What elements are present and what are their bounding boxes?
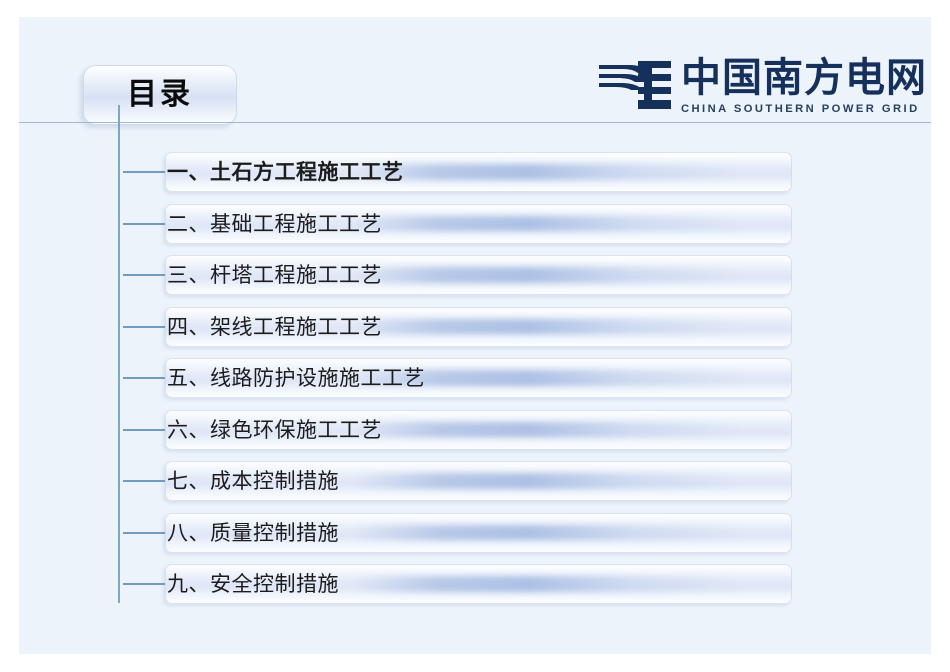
toc-item[interactable]: 二、基础工程施工工艺	[123, 204, 823, 242]
toc-item-label: 二、基础工程施工工艺	[167, 204, 382, 242]
toc-item-tick-icon	[123, 377, 165, 379]
toc-item-label: 七、成本控制措施	[167, 461, 339, 499]
toc-item[interactable]: 四、架线工程施工工艺	[123, 307, 823, 345]
toc-item[interactable]: 六、绿色环保施工工艺	[123, 410, 823, 448]
toc-item-tick-icon	[123, 429, 165, 431]
toc-item[interactable]: 七、成本控制措施	[123, 461, 823, 499]
toc-item-tick-icon	[123, 532, 165, 534]
toc-item-label: 六、绿色环保施工工艺	[167, 410, 382, 448]
toc-item[interactable]: 五、线路防护设施施工工艺	[123, 358, 823, 396]
toc-item[interactable]: 三、杆塔工程施工工艺	[123, 255, 823, 293]
toc-item-tick-icon	[123, 171, 165, 173]
toc-item-tick-icon	[123, 326, 165, 328]
toc-item-label: 四、架线工程施工工艺	[167, 307, 382, 345]
toc-item-tick-icon	[123, 583, 165, 585]
toc-item-label: 五、线路防护设施施工工艺	[167, 358, 425, 396]
toc-item[interactable]: 八、质量控制措施	[123, 513, 823, 551]
toc-item[interactable]: 九、安全控制措施	[123, 564, 823, 602]
toc-item-label: 一、土石方工程施工工艺	[167, 152, 404, 190]
toc-item-tick-icon	[123, 223, 165, 225]
toc-item-label: 九、安全控制措施	[167, 564, 339, 602]
toc-item-label: 三、杆塔工程施工工艺	[167, 255, 382, 293]
toc-item-label: 八、质量控制措施	[167, 513, 339, 551]
slide-canvas: 中国南方电网 CHINA SOUTHERN POWER GRID 目录 一、土石…	[19, 17, 931, 654]
toc-list: 一、土石方工程施工工艺二、基础工程施工工艺三、杆塔工程施工工艺四、架线工程施工工…	[19, 17, 931, 654]
toc-item-tick-icon	[123, 274, 165, 276]
toc-item-tick-icon	[123, 480, 165, 482]
toc-item[interactable]: 一、土石方工程施工工艺	[123, 152, 823, 190]
